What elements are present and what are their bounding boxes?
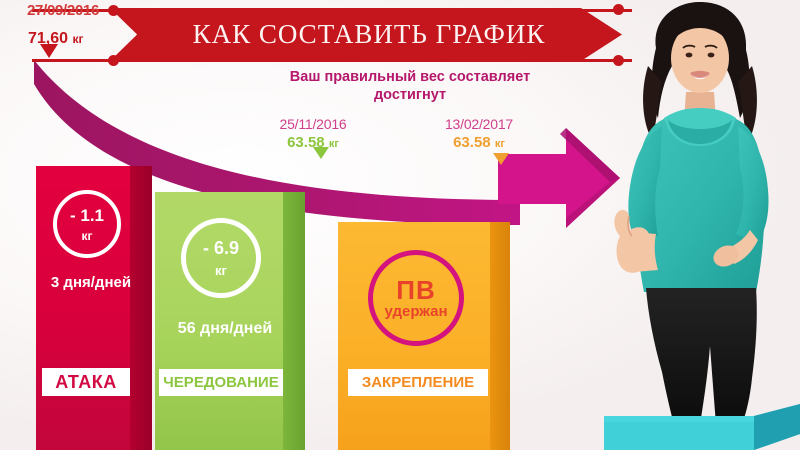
phase-bar-ataka[interactable]: - 1.1 кг 3 дня/дней АТАКА [36, 166, 152, 450]
phase-label-plate: ЗАКРЕПЛЕНИЕ [348, 369, 488, 396]
start-date: 27/09/2016 [27, 2, 99, 19]
subtitle-line-2: достигнут [240, 86, 580, 104]
phase-duration: 3 дня/дней [51, 274, 131, 291]
subtitle-line-1: Ваш правильный вес составляет [240, 68, 580, 86]
phase-label: ЗАКРЕПЛЕНИЕ [362, 374, 474, 391]
milestone-marker: 13/02/2017 63.58 кг [424, 116, 534, 165]
down-triangle-icon [40, 44, 58, 58]
weight-badge: ПВ удержан [368, 250, 464, 346]
badge-unit: кг [215, 264, 227, 277]
start-weight-unit: кг [73, 32, 84, 46]
banner-dot-icon [613, 55, 624, 66]
phase-label-plate: ЧЕРЕДОВАНИЕ [159, 369, 283, 396]
weight-badge: - 6.9 кг [181, 218, 261, 298]
page-title: КАК СОСТАВИТЬ ГРАФИК [187, 19, 546, 50]
banner-dot-icon [108, 55, 119, 66]
banner-dot-icon [613, 4, 624, 15]
badge-value: - 1.1 [70, 207, 104, 224]
milestone-weight-value: 63.58 [453, 134, 491, 151]
banner-dot-icon [108, 5, 119, 16]
infographic-canvas: - 1.1 кг 3 дня/дней АТАКА - 6.9 кг 56 дн… [0, 0, 800, 450]
phase-label: ЧЕРЕДОВАНИЕ [163, 374, 278, 391]
down-triangle-icon [493, 153, 509, 165]
subtitle-block: Ваш правильный вес составляет достигнут [240, 68, 580, 104]
milestone-weight: 63.58 кг [424, 134, 534, 151]
phase-bar-zakreplenie[interactable]: ПВ удержан 80 дня/дней ЗАКРЕПЛЕНИЕ [338, 222, 510, 450]
badge-value: - 6.9 [203, 239, 239, 257]
milestone-date: 13/02/2017 [424, 116, 534, 132]
milestone-weight-unit: кг [329, 138, 339, 150]
weight-badge: - 1.1 кг [53, 190, 121, 258]
milestone-date: 25/11/2016 [258, 116, 368, 132]
teal-pedestal [604, 404, 800, 450]
banner-ribbon: КАК СОСТАВИТЬ ГРАФИК [110, 8, 622, 61]
phase-label-plate: АТАКА [42, 368, 130, 396]
title-banner: КАК СОСТАВИТЬ ГРАФИК [0, 0, 800, 72]
phase-bar-cheredovanie[interactable]: - 6.9 кг 56 дня/дней ЧЕРЕДОВАНИЕ [155, 192, 305, 450]
badge-unit: удержан [384, 304, 447, 319]
milestone-marker: 25/11/2016 63.58 кг [258, 116, 368, 159]
down-triangle-icon [313, 147, 329, 159]
badge-value: ПВ [396, 277, 435, 303]
phase-duration: 56 дня/дней [178, 320, 272, 338]
milestone-weight-unit: кг [495, 138, 505, 150]
badge-unit: кг [81, 230, 92, 242]
phase-label: АТАКА [55, 372, 116, 393]
